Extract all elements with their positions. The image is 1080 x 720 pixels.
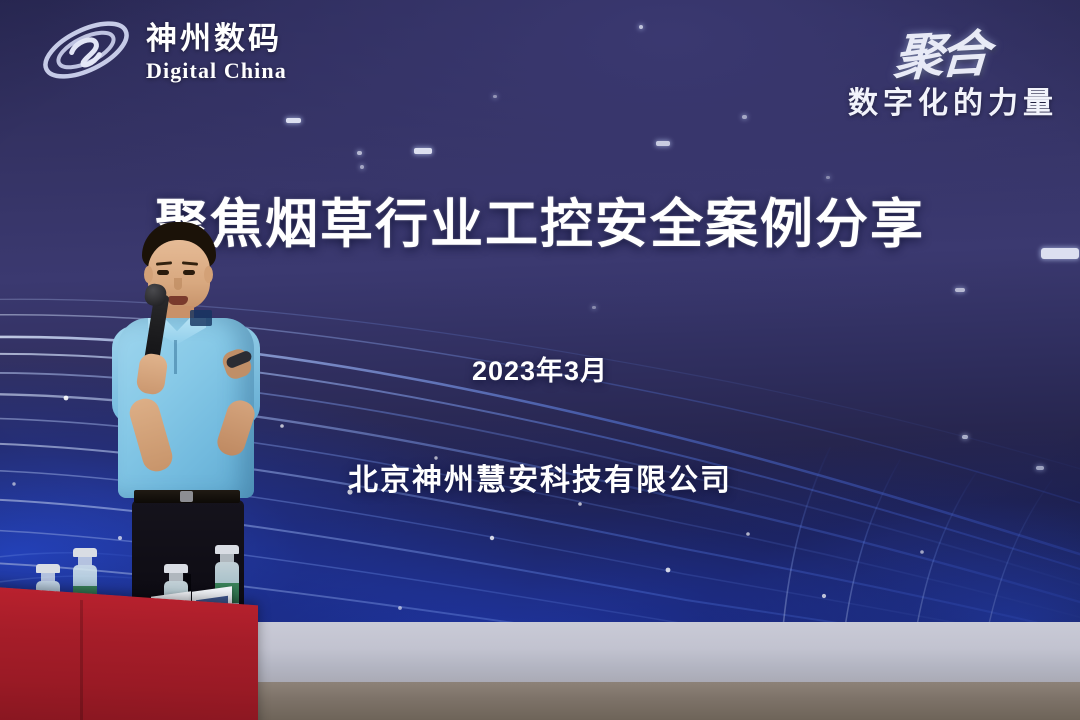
light-particle	[493, 95, 497, 98]
speaker-eye-left	[157, 270, 169, 275]
speaker-shirt-placket	[174, 340, 177, 374]
speaker-ear-left	[144, 266, 153, 283]
speaker-mouth	[168, 296, 188, 305]
shirt-logo-icon	[190, 310, 212, 326]
red-conference-table	[0, 587, 258, 720]
light-particle	[742, 115, 747, 119]
brand-name-cn: 神州数码	[146, 23, 287, 54]
light-particle	[357, 151, 362, 155]
light-particle	[656, 141, 670, 146]
event-slogan: 聚合 数字化的力量	[848, 16, 1058, 122]
speaker-eye-right	[183, 270, 195, 275]
light-particle	[639, 25, 643, 29]
brand-name-en: Digital China	[146, 60, 287, 82]
speaker-ear-right	[204, 266, 213, 283]
light-particle	[286, 118, 301, 123]
speaker-figure	[96, 222, 286, 632]
light-particle	[414, 148, 432, 154]
light-particle	[826, 176, 830, 179]
brand-lockup: 神州数码 Digital China	[38, 14, 287, 86]
belt-buckle	[180, 491, 193, 502]
conference-photo: 神州数码 Digital China 聚合 数字化的力量 聚焦烟草行业工控安全案…	[0, 0, 1080, 720]
light-particle	[360, 165, 364, 169]
table-drape-fold	[80, 600, 83, 720]
slogan-calligraphy: 聚合	[892, 14, 988, 91]
galaxy-swirl-icon	[38, 14, 134, 86]
speaker-nose	[174, 278, 182, 290]
